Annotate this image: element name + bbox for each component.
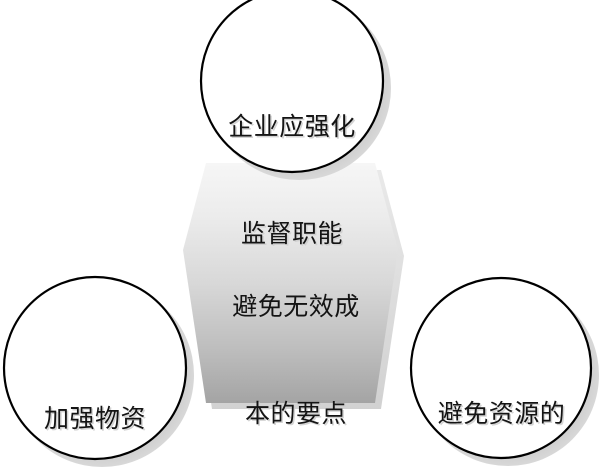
node-bottom-left-circle[interactable]	[4, 277, 186, 459]
center-hexagon	[183, 163, 398, 403]
diagram-shapes	[0, 0, 600, 474]
node-bottom-right-circle[interactable]	[411, 278, 591, 458]
diagram-canvas: 企业应强化 监督职能 避免无效成 本的要点 加强物资 管理 避免资源的 闲置和浪…	[0, 0, 600, 474]
node-top-circle[interactable]	[201, 0, 383, 172]
